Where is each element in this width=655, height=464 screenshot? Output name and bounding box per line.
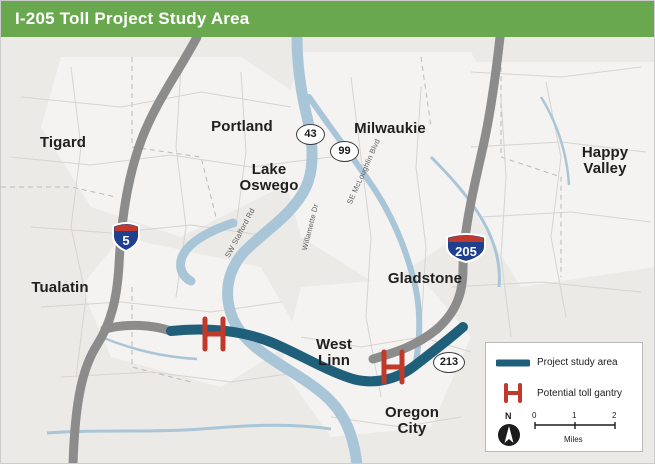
legend-potential-toll-gantry-label: Potential toll gantry xyxy=(537,388,622,399)
route-99-shield-label: 99 xyxy=(338,146,350,157)
scale-tick-1: 1 xyxy=(572,411,576,420)
north-arrow-icon xyxy=(496,422,522,448)
city-label-happy-valley: Happy Valley xyxy=(561,145,649,177)
toll-gantry-east-icon xyxy=(384,352,402,382)
route-43-shield: 43 xyxy=(296,124,325,145)
map-legend: Project study area Potential toll gantry… xyxy=(485,342,643,452)
city-label-portland: Portland xyxy=(187,119,297,135)
interstate-5-shield-label: 5 xyxy=(111,233,141,248)
scale-tick-0: 0 xyxy=(532,411,536,420)
map-canvas: Tigard Portland Milwaukie Happy Valley L… xyxy=(1,37,655,464)
toll-gantry-icon xyxy=(496,382,530,404)
city-label-lake-oswego: Lake Oswego xyxy=(220,162,318,194)
city-label-tigard: Tigard xyxy=(15,135,111,151)
study-area-line-swatch xyxy=(496,358,530,368)
city-label-oregon-city: Oregon City xyxy=(369,405,455,437)
map-figure: I-205 Toll Project Study Area xyxy=(0,0,655,464)
north-arrow-label: N xyxy=(505,411,512,421)
city-label-milwaukie: Milwaukie xyxy=(334,121,446,137)
route-99-shield: 99 xyxy=(330,141,359,162)
legend-potential-toll-gantry: Potential toll gantry xyxy=(496,382,622,404)
legend-project-study-area: Project study area xyxy=(496,357,618,368)
interstate-205-shield: 205 xyxy=(444,233,488,263)
city-label-west-linn: West Linn xyxy=(297,337,371,369)
scale-tick-2: 2 xyxy=(612,411,616,420)
route-213-shield: 213 xyxy=(433,352,465,373)
interstate-205-shield-label: 205 xyxy=(444,244,488,259)
page-title: I-205 Toll Project Study Area xyxy=(1,9,249,29)
interstate-5-shield: 5 xyxy=(111,222,141,252)
legend-project-study-area-label: Project study area xyxy=(537,357,618,368)
map-title-bar: I-205 Toll Project Study Area xyxy=(1,1,655,37)
scale-unit-label: Miles xyxy=(564,435,583,444)
route-43-shield-label: 43 xyxy=(304,129,316,140)
route-213-shield-label: 213 xyxy=(440,357,458,368)
city-label-gladstone: Gladstone xyxy=(369,271,481,287)
toll-gantry-west-icon xyxy=(205,319,223,349)
city-label-tualatin: Tualatin xyxy=(8,280,112,296)
